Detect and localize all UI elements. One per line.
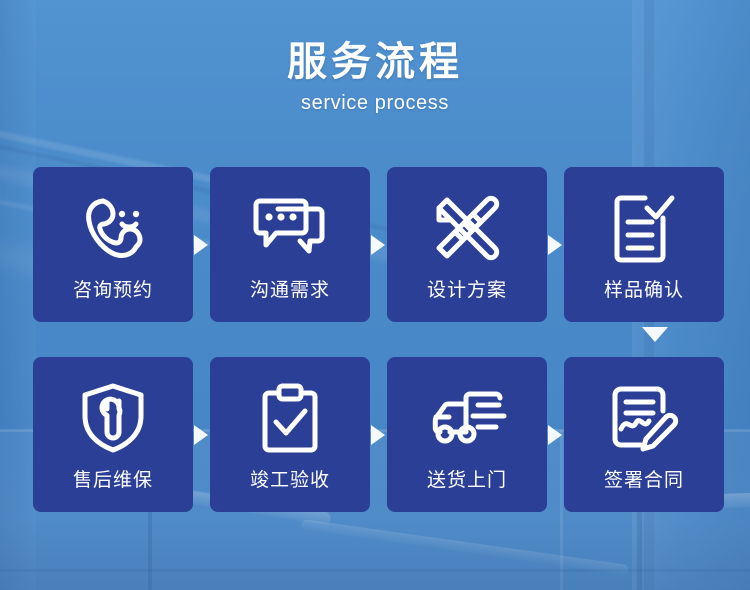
step-separator <box>193 357 210 512</box>
process-step-label: 竣工验收 <box>250 465 330 492</box>
service-process-banner: 服务流程 service process 咨询预约 <box>0 0 750 590</box>
process-step-card[interactable]: 咨询预约 <box>33 167 193 322</box>
delivery-truck-icon <box>423 379 511 457</box>
process-step-label: 售后维保 <box>73 465 153 492</box>
shield-wrench-icon <box>69 379 157 457</box>
triangle-right-icon <box>371 425 385 445</box>
step-separator <box>193 167 210 322</box>
process-step-card[interactable]: 沟通需求 <box>210 167 370 322</box>
process-step-card[interactable]: 售后维保 <box>33 357 193 512</box>
process-step-label: 沟通需求 <box>250 275 330 302</box>
banner-header: 服务流程 service process <box>0 40 750 115</box>
process-step-label: 咨询预约 <box>73 275 153 302</box>
triangle-right-icon <box>194 425 208 445</box>
contract-sign-icon <box>600 379 688 457</box>
pencil-ruler-icon <box>423 189 511 267</box>
step-separator <box>547 357 564 512</box>
step-separator <box>370 167 387 322</box>
step-separator <box>370 357 387 512</box>
phone-smile-icon <box>69 189 157 267</box>
process-step-label: 设计方案 <box>427 275 507 302</box>
process-row: 售后维保 竣工验收 <box>33 357 723 512</box>
page-subtitle: service process <box>0 92 750 115</box>
process-step-card[interactable]: 送货上门 <box>387 357 547 512</box>
triangle-right-icon <box>371 235 385 255</box>
process-step-card[interactable]: 设计方案 <box>387 167 547 322</box>
chat-bubbles-icon <box>246 189 334 267</box>
triangle-down-icon <box>642 327 668 342</box>
process-step-label: 签署合同 <box>604 465 684 492</box>
process-grid: 咨询预约 沟通需求 <box>33 167 723 512</box>
process-row: 咨询预约 沟通需求 <box>33 167 723 322</box>
process-step-card[interactable]: 样品确认 <box>564 167 724 322</box>
triangle-right-icon <box>194 235 208 255</box>
process-step-card[interactable]: 签署合同 <box>564 357 724 512</box>
triangle-right-icon <box>548 425 562 445</box>
process-step-label: 样品确认 <box>604 275 684 302</box>
triangle-right-icon <box>548 235 562 255</box>
page-title: 服务流程 <box>0 40 750 84</box>
document-check-icon <box>600 189 688 267</box>
process-step-label: 送货上门 <box>427 465 507 492</box>
process-step-card[interactable]: 竣工验收 <box>210 357 370 512</box>
clipboard-check-icon <box>246 379 334 457</box>
step-separator <box>547 167 564 322</box>
